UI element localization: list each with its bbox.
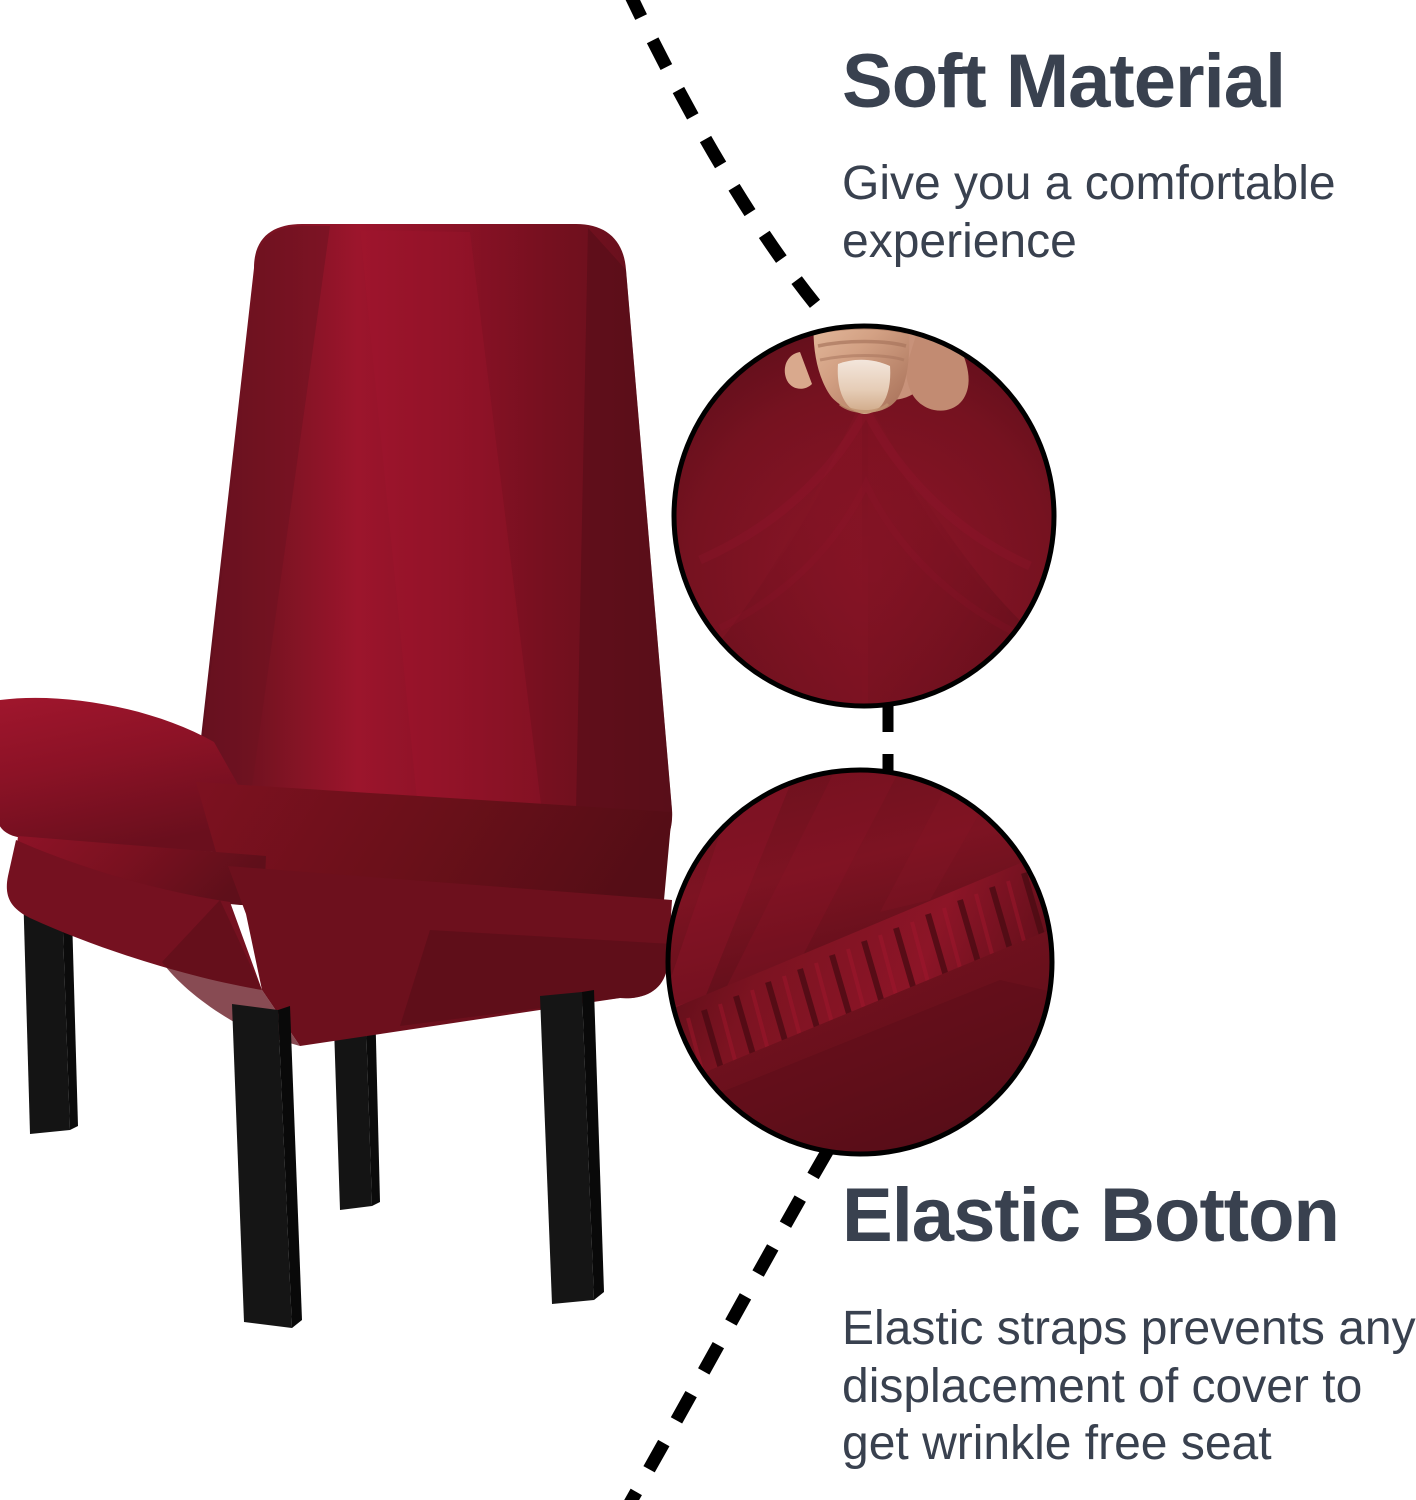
chair-leg-front-left	[232, 1004, 302, 1328]
elastic-botton-description: Elastic straps prevents any displacement…	[842, 1300, 1416, 1473]
soft-material-description: Give you a comfortable experience	[842, 155, 1372, 270]
elastic-botton-heading: Elastic Botton	[842, 1178, 1408, 1254]
product-infographic: Soft Material Give you a comfortable exp…	[0, 0, 1416, 1500]
soft-material-heading: Soft Material	[842, 44, 1402, 120]
chair-backrest	[195, 224, 672, 864]
